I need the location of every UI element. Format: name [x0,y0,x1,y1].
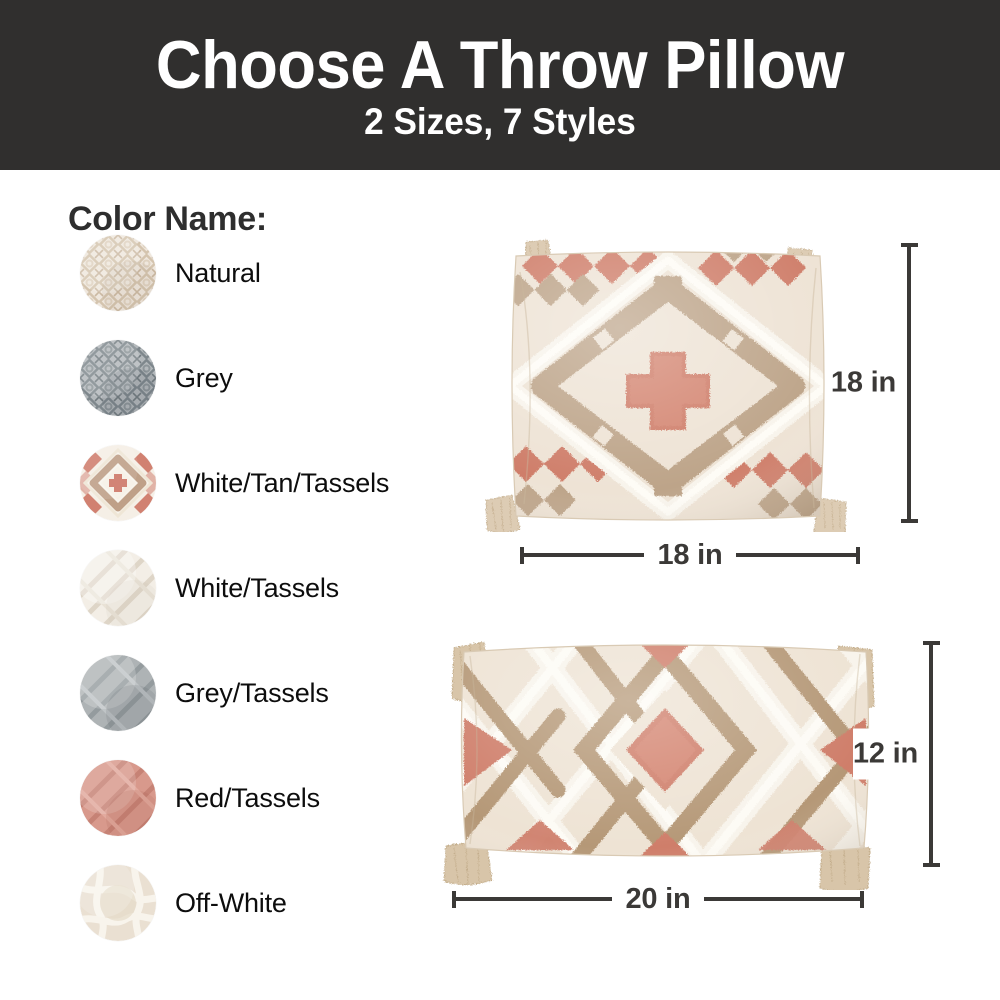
dim-vline-bottom [929,754,933,863]
lumbar-width-label: 20 in [612,883,703,916]
swatch-grey-icon[interactable] [80,340,156,416]
dim-vline-top [929,645,933,754]
dim-cap-right [856,547,860,564]
swatch-white-tan-tassels-icon[interactable] [80,445,156,521]
swatch-row-grey[interactable]: Grey [80,339,460,417]
swatch-row-grey-tassels[interactable]: Grey/Tassels [80,654,460,732]
swatch-row-red-tassels[interactable]: Red/Tassels [80,759,460,837]
color-swatch-list: Natural [0,0,470,1000]
lumbar-pillow-face [440,620,890,890]
dim-line-right [736,553,856,557]
swatch-label-grey-tassels: Grey/Tassels [175,678,329,709]
square-height-dimension: 18 in [898,243,920,523]
swatch-row-white-tassels[interactable]: White/Tassels [80,549,460,627]
swatch-natural-icon[interactable] [80,235,156,311]
dim-cap-right [860,891,864,908]
dim-vcap-bottom [901,519,918,523]
swatch-row-off-white[interactable]: Off-White [80,864,460,942]
square-width-dimension: 18 in [520,540,860,570]
square-pillow-image [468,232,868,532]
swatch-off-white-icon[interactable] [80,865,156,941]
dim-vcap-bottom [923,863,940,867]
swatch-label-white-tassels: White/Tassels [175,573,339,604]
dim-line-left [456,897,612,901]
lumbar-pillow-image [440,620,890,890]
swatch-row-natural[interactable]: Natural [80,234,460,312]
swatch-label-grey: Grey [175,363,233,394]
swatch-grey-tassels-icon[interactable] [80,655,156,731]
square-width-label: 18 in [644,539,735,572]
swatch-label-red-tassels: Red/Tassels [175,783,320,814]
swatch-label-natural: Natural [175,258,261,289]
square-height-label: 18 in [831,358,896,409]
swatch-red-tassels-icon[interactable] [80,760,156,836]
swatch-label-white-tan-tassels: White/Tan/Tassels [175,468,389,499]
dim-line-left [524,553,644,557]
swatch-label-off-white: Off-White [175,888,287,919]
swatch-white-tassels-icon[interactable] [80,550,156,626]
lumbar-height-label: 12 in [853,729,918,780]
lumbar-height-dimension: 12 in [920,641,942,867]
swatch-row-white-tan-tassels[interactable]: White/Tan/Tassels [80,444,460,522]
dim-vline-top [907,247,911,383]
dim-vline-bottom [907,383,911,519]
lumbar-width-dimension: 20 in [452,884,864,914]
infographic-page: Choose A Throw Pillow 2 Sizes, 7 Styles … [0,0,1000,1000]
dim-line-right [704,897,860,901]
square-pillow-face [468,232,868,532]
